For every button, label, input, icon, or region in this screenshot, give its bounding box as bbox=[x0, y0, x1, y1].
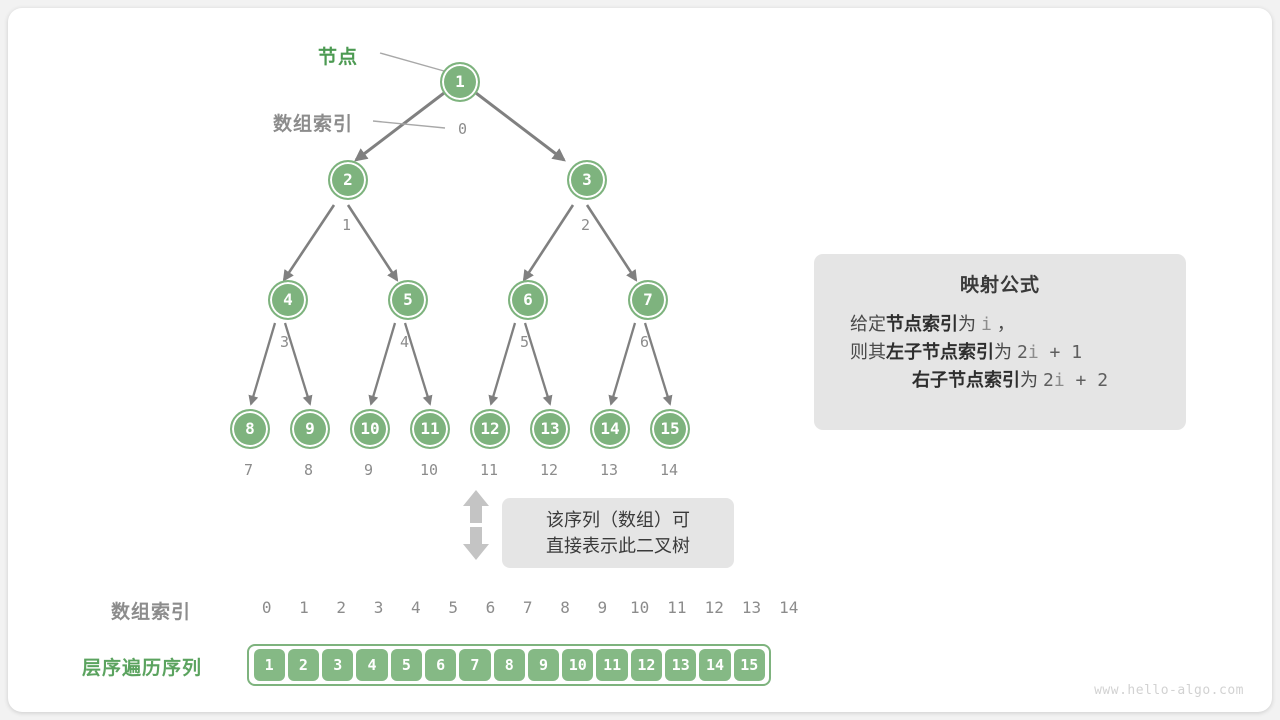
formula-line-1: 给定节点索引为 i ， bbox=[832, 311, 1168, 339]
watermark: www.hello-algo.com bbox=[1094, 683, 1244, 698]
array-index-cell: 1 bbox=[285, 598, 322, 617]
tree-node-8[interactable]: 8 bbox=[230, 409, 270, 449]
array-cell[interactable]: 11 bbox=[596, 649, 627, 681]
array-cell[interactable]: 7 bbox=[459, 649, 490, 681]
array-index-cell: 10 bbox=[621, 598, 658, 617]
formula-panel-title: 映射公式 bbox=[832, 270, 1168, 297]
callout-array-index-label: 数组索引 bbox=[273, 109, 353, 136]
tree-node-index-2: 2 bbox=[581, 216, 590, 234]
array-cell[interactable]: 2 bbox=[288, 649, 319, 681]
mapping-formula-panel: 映射公式 给定节点索引为 i ， 则其左子节点索引为 2i + 1 右子节点索引… bbox=[814, 254, 1186, 430]
tree-node-index-1: 1 bbox=[342, 216, 351, 234]
array-cell[interactable]: 12 bbox=[631, 649, 662, 681]
array-index-cell: 9 bbox=[584, 598, 621, 617]
formula-l2-expr-a: 2 bbox=[1017, 342, 1028, 363]
formula-l1-var: i bbox=[981, 314, 992, 335]
array-cell[interactable]: 13 bbox=[665, 649, 696, 681]
diagram-canvas: 节点 数组索引 1 0 2 1 3 2 4 3 5 4 6 5 7 6 8 7 … bbox=[0, 0, 1280, 720]
array-container: 123456789101112131415 bbox=[247, 644, 771, 686]
tree-node-index-10: 10 bbox=[420, 461, 438, 479]
array-cell[interactable]: 1 bbox=[254, 649, 285, 681]
formula-l1-pre: 给定 bbox=[850, 314, 886, 334]
formula-l3-mid: 为 bbox=[1020, 370, 1038, 390]
tree-node-7[interactable]: 7 bbox=[628, 280, 668, 320]
tree-node-index-0: 0 bbox=[458, 120, 467, 138]
note-line-1: 该序列（数组）可 bbox=[546, 507, 690, 533]
tree-node-6[interactable]: 6 bbox=[508, 280, 548, 320]
tree-node-4[interactable]: 4 bbox=[268, 280, 308, 320]
array-index-cell: 2 bbox=[323, 598, 360, 617]
diagram-card: 节点 数组索引 1 0 2 1 3 2 4 3 5 4 6 5 7 6 8 7 … bbox=[8, 8, 1272, 712]
tree-node-index-13: 13 bbox=[600, 461, 618, 479]
formula-l1-bold: 节点索引 bbox=[886, 314, 958, 334]
formula-l3-expr-b: + 2 bbox=[1065, 370, 1108, 391]
tree-node-13[interactable]: 13 bbox=[530, 409, 570, 449]
array-index-cell: 8 bbox=[546, 598, 583, 617]
array-index-cell: 11 bbox=[658, 598, 695, 617]
array-cell[interactable]: 4 bbox=[356, 649, 387, 681]
tree-node-index-3: 3 bbox=[280, 333, 289, 351]
formula-l3-bold: 右子节点索引 bbox=[912, 370, 1020, 390]
formula-line-2: 则其左子节点索引为 2i + 1 bbox=[832, 339, 1168, 367]
array-cell[interactable]: 8 bbox=[494, 649, 525, 681]
array-index-cell: 12 bbox=[696, 598, 733, 617]
tree-node-index-9: 9 bbox=[364, 461, 373, 479]
array-index-cell: 0 bbox=[248, 598, 285, 617]
formula-l2-pre: 则其 bbox=[850, 342, 886, 362]
array-cell[interactable]: 15 bbox=[734, 649, 765, 681]
tree-node-index-14: 14 bbox=[660, 461, 678, 479]
tree-node-1[interactable]: 1 bbox=[440, 62, 480, 102]
array-cell[interactable]: 6 bbox=[425, 649, 456, 681]
tree-node-index-12: 12 bbox=[540, 461, 558, 479]
array-index-cell: 13 bbox=[733, 598, 770, 617]
tree-node-2[interactable]: 2 bbox=[328, 160, 368, 200]
array-index-cell: 14 bbox=[770, 598, 807, 617]
array-cell[interactable]: 14 bbox=[699, 649, 730, 681]
tree-node-12[interactable]: 12 bbox=[470, 409, 510, 449]
tree-node-10[interactable]: 10 bbox=[350, 409, 390, 449]
tree-node-3[interactable]: 3 bbox=[567, 160, 607, 200]
tree-node-9[interactable]: 9 bbox=[290, 409, 330, 449]
tree-node-15[interactable]: 15 bbox=[650, 409, 690, 449]
array-index-row: 01234567891011121314 bbox=[248, 598, 807, 617]
tree-node-index-11: 11 bbox=[480, 461, 498, 479]
tree-node-index-4: 4 bbox=[400, 333, 409, 351]
formula-l2-expr-i: i bbox=[1028, 342, 1039, 363]
array-index-cell: 4 bbox=[397, 598, 434, 617]
tree-node-index-6: 6 bbox=[640, 333, 649, 351]
array-index-row-label: 数组索引 bbox=[111, 597, 191, 624]
tree-node-index-7: 7 bbox=[244, 461, 253, 479]
array-index-cell: 3 bbox=[360, 598, 397, 617]
callout-node-label: 节点 bbox=[318, 42, 358, 69]
tree-node-14[interactable]: 14 bbox=[590, 409, 630, 449]
array-index-cell: 7 bbox=[509, 598, 546, 617]
formula-l3-expr-a: 2 bbox=[1043, 370, 1054, 391]
tree-node-5[interactable]: 5 bbox=[388, 280, 428, 320]
array-cell[interactable]: 9 bbox=[528, 649, 559, 681]
formula-l1-post: ， bbox=[997, 314, 1015, 334]
formula-l1-mid: 为 bbox=[958, 314, 976, 334]
tree-node-index-5: 5 bbox=[520, 333, 529, 351]
sequence-note-box: 该序列（数组）可 直接表示此二叉树 bbox=[502, 498, 734, 568]
array-cell[interactable]: 10 bbox=[562, 649, 593, 681]
level-order-sequence-label: 层序遍历序列 bbox=[82, 653, 202, 680]
array-cell[interactable]: 5 bbox=[391, 649, 422, 681]
note-line-2: 直接表示此二叉树 bbox=[546, 533, 690, 559]
array-index-cell: 5 bbox=[434, 598, 471, 617]
array-index-cell: 6 bbox=[472, 598, 509, 617]
formula-l2-bold: 左子节点索引 bbox=[886, 342, 994, 362]
formula-l2-expr-b: + 1 bbox=[1039, 342, 1082, 363]
tree-node-index-8: 8 bbox=[304, 461, 313, 479]
array-cell[interactable]: 3 bbox=[322, 649, 353, 681]
tree-node-11[interactable]: 11 bbox=[410, 409, 450, 449]
double-arrow-icon bbox=[463, 490, 489, 560]
formula-line-3: 右子节点索引为 2i + 2 bbox=[832, 367, 1168, 395]
formula-l2-mid: 为 bbox=[994, 342, 1012, 362]
formula-l3-expr-i: i bbox=[1054, 370, 1065, 391]
